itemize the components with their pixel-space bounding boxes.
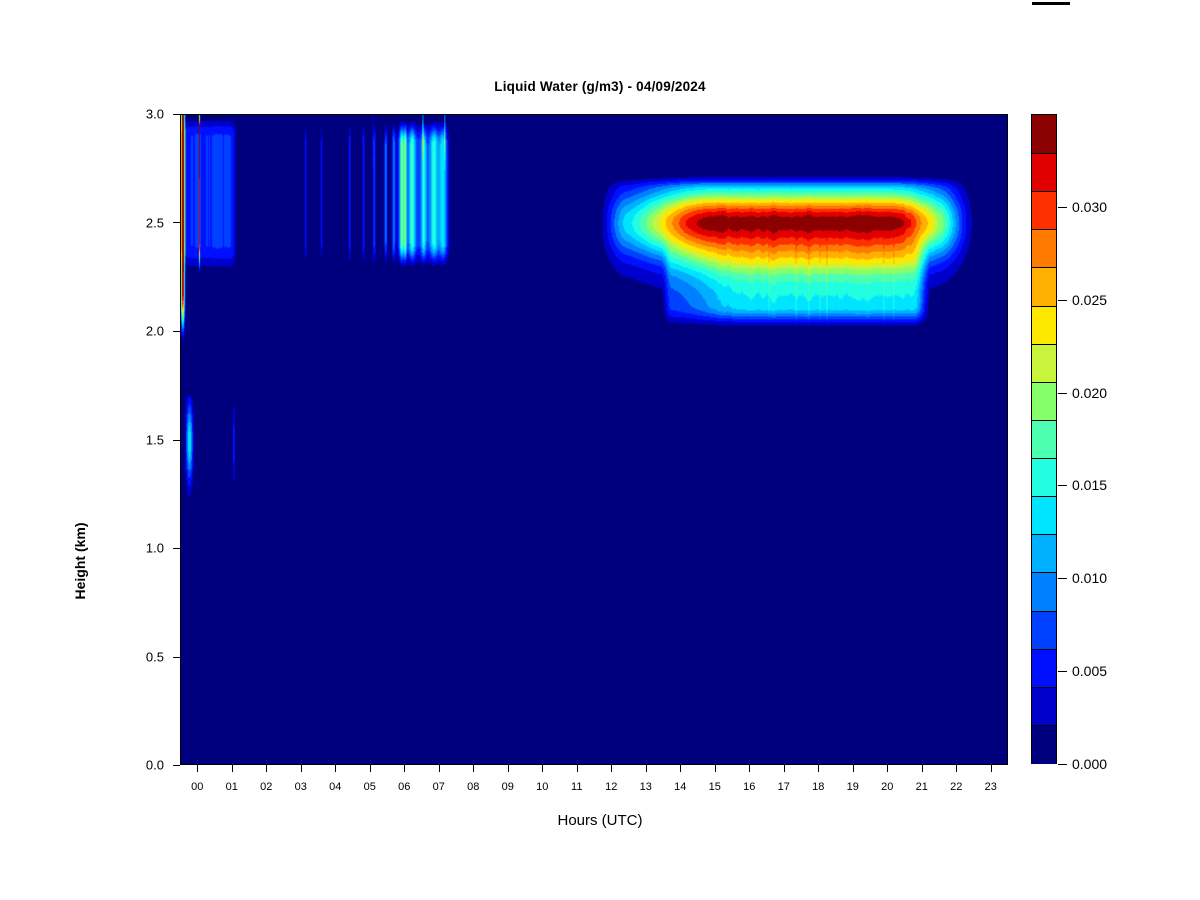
colorbar-tick-label: 0.025 xyxy=(1072,292,1107,308)
y-axis-title: Height (km) xyxy=(72,471,88,651)
x-tick-label: 15 xyxy=(698,781,732,793)
x-tick xyxy=(508,765,509,772)
x-tick-label: 07 xyxy=(422,781,456,793)
colorbar-band xyxy=(1032,611,1056,650)
x-tick-label: 06 xyxy=(387,781,421,793)
x-tick-label: 11 xyxy=(560,781,594,793)
colorbar-tick-label: 0.005 xyxy=(1072,663,1107,679)
colorbar-band xyxy=(1032,344,1056,383)
page-title: Liquid Water (g/m3) - 04/09/2024 xyxy=(0,79,1200,94)
colorbar-tick-label: 0.020 xyxy=(1072,385,1107,401)
y-tick xyxy=(173,657,180,658)
colorbar-tick-label: 0.000 xyxy=(1072,756,1107,772)
x-tick-label: 02 xyxy=(249,781,283,793)
x-tick xyxy=(646,765,647,772)
heatmap-canvas xyxy=(181,115,1007,764)
y-tick-label: 0.0 xyxy=(104,758,164,773)
x-tick xyxy=(370,765,371,772)
x-tick-label: 10 xyxy=(525,781,559,793)
x-axis-title: Hours (UTC) xyxy=(0,812,1200,829)
x-tick xyxy=(266,765,267,772)
heatmap-plot-area xyxy=(180,114,1008,765)
x-tick xyxy=(956,765,957,772)
stray-mark xyxy=(1032,2,1070,5)
colorbar-band xyxy=(1032,458,1056,497)
x-tick-label: 21 xyxy=(905,781,939,793)
y-tick xyxy=(173,331,180,332)
colorbar-tick-label: 0.030 xyxy=(1072,199,1107,215)
y-tick xyxy=(173,548,180,549)
x-tick xyxy=(818,765,819,772)
y-tick-label: 0.5 xyxy=(104,649,164,664)
x-tick-label: 13 xyxy=(629,781,663,793)
colorbar-band xyxy=(1032,153,1056,192)
y-tick-label: 1.5 xyxy=(104,432,164,447)
x-tick-label: 01 xyxy=(215,781,249,793)
y-tick-label: 2.5 xyxy=(104,215,164,230)
x-tick xyxy=(991,765,992,772)
y-tick-label: 2.0 xyxy=(104,324,164,339)
chart-page: Liquid Water (g/m3) - 04/09/2024 0.00.51… xyxy=(0,0,1200,900)
x-tick xyxy=(577,765,578,772)
x-tick xyxy=(335,765,336,772)
x-tick-label: 09 xyxy=(491,781,525,793)
x-tick-label: 08 xyxy=(456,781,490,793)
x-tick-label: 14 xyxy=(663,781,697,793)
x-tick-label: 04 xyxy=(318,781,352,793)
x-tick xyxy=(542,765,543,772)
colorbar-band xyxy=(1032,649,1056,688)
x-tick-label: 19 xyxy=(836,781,870,793)
x-tick-label: 12 xyxy=(594,781,628,793)
y-tick-label: 3.0 xyxy=(104,107,164,122)
x-tick-label: 05 xyxy=(353,781,387,793)
colorbar-tick-label: 0.015 xyxy=(1072,477,1107,493)
colorbar-band xyxy=(1032,115,1056,154)
x-tick xyxy=(680,765,681,772)
x-tick xyxy=(784,765,785,772)
x-tick xyxy=(232,765,233,772)
x-tick xyxy=(439,765,440,772)
colorbar-tick xyxy=(1058,578,1067,579)
x-tick xyxy=(404,765,405,772)
x-tick-label: 20 xyxy=(870,781,904,793)
y-tick xyxy=(173,440,180,441)
colorbar-band xyxy=(1032,725,1056,764)
colorbar xyxy=(1031,114,1057,764)
colorbar-band xyxy=(1032,420,1056,459)
colorbar-band xyxy=(1032,534,1056,573)
x-tick-label: 00 xyxy=(180,781,214,793)
x-tick xyxy=(922,765,923,772)
colorbar-band xyxy=(1032,306,1056,345)
x-tick xyxy=(301,765,302,772)
colorbar-tick xyxy=(1058,300,1067,301)
colorbar-band xyxy=(1032,382,1056,421)
colorbar-band xyxy=(1032,267,1056,306)
colorbar-tick xyxy=(1058,393,1067,394)
x-tick xyxy=(715,765,716,772)
x-tick xyxy=(473,765,474,772)
x-tick-label: 18 xyxy=(801,781,835,793)
colorbar-tick xyxy=(1058,485,1067,486)
x-tick-label: 17 xyxy=(767,781,801,793)
colorbar-tick xyxy=(1058,207,1067,208)
colorbar-band xyxy=(1032,191,1056,230)
colorbar-band xyxy=(1032,496,1056,535)
y-tick xyxy=(173,765,180,766)
x-tick xyxy=(887,765,888,772)
x-tick-label: 22 xyxy=(939,781,973,793)
y-tick xyxy=(173,222,180,223)
colorbar-band xyxy=(1032,572,1056,611)
colorbar-tick xyxy=(1058,764,1067,765)
x-tick-label: 03 xyxy=(284,781,318,793)
x-tick xyxy=(749,765,750,772)
y-tick-label: 1.0 xyxy=(104,541,164,556)
x-tick xyxy=(197,765,198,772)
x-tick-label: 23 xyxy=(974,781,1008,793)
x-tick xyxy=(611,765,612,772)
x-tick xyxy=(853,765,854,772)
y-tick xyxy=(173,114,180,115)
colorbar-tick-label: 0.010 xyxy=(1072,570,1107,586)
colorbar-band xyxy=(1032,229,1056,268)
colorbar-tick xyxy=(1058,671,1067,672)
colorbar-band xyxy=(1032,687,1056,726)
x-tick-label: 16 xyxy=(732,781,766,793)
